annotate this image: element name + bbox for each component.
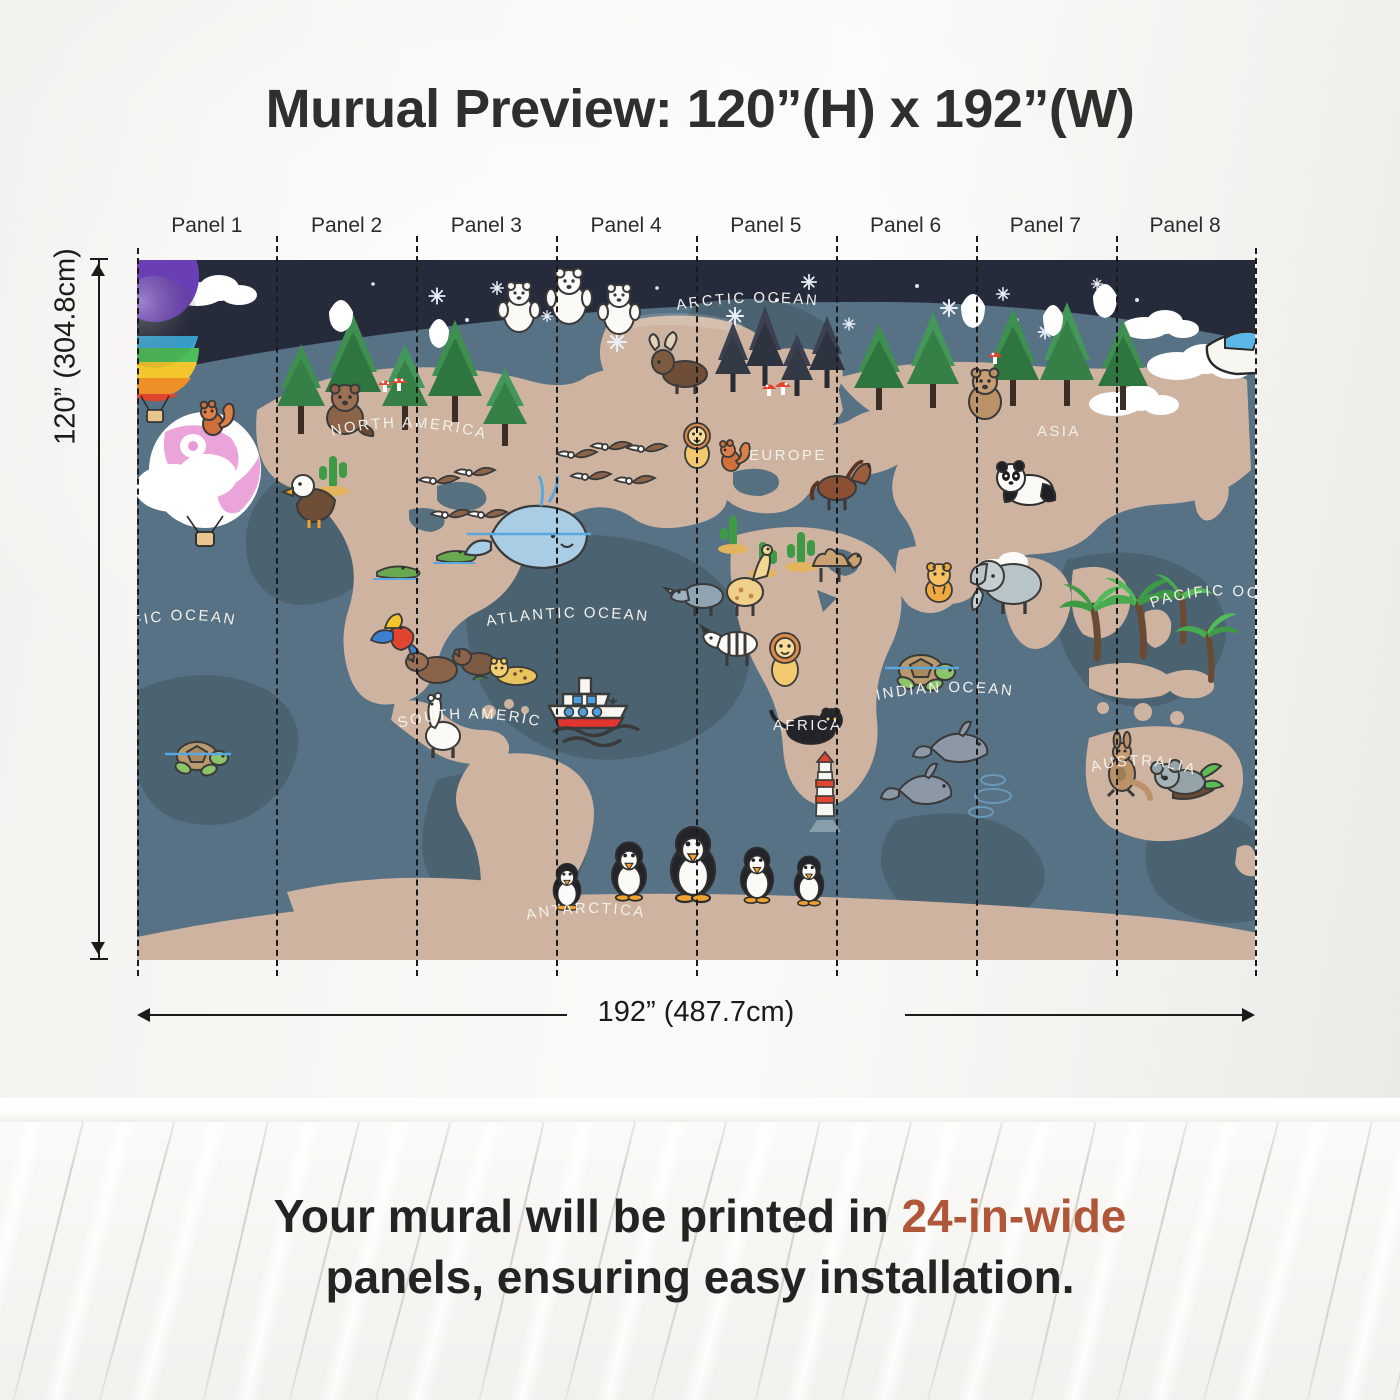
panel-label-3: Panel 3 (417, 214, 557, 248)
label-asia: ASIA (1037, 423, 1081, 440)
panel-label-8: Panel 8 (1115, 214, 1255, 248)
height-dimension (86, 258, 112, 960)
height-arrow-down (91, 942, 105, 954)
panel-label-5: Panel 5 (696, 214, 836, 248)
panel-divider-5 (836, 236, 838, 976)
page-title: Murual Preview: 120”(H) x 192”(W) (0, 78, 1400, 140)
width-dimension: 192” (487.7cm) (137, 1000, 1255, 1030)
panel-divider-3 (556, 236, 558, 976)
panel-label-7: Panel 7 (976, 214, 1116, 248)
width-dimension-label: 192” (487.7cm) (137, 996, 1255, 1029)
panel-divider-edge-left (137, 248, 139, 976)
installation-caption: Your mural will be printed in 24-in-wide… (0, 1186, 1400, 1308)
panel-label-2: Panel 2 (277, 214, 417, 248)
height-dimension-line (98, 258, 100, 960)
baseboard (0, 1098, 1400, 1122)
panel-divider-7 (1116, 236, 1118, 976)
panel-divider-2 (416, 236, 418, 976)
lion-icon-2 (770, 633, 800, 686)
panel-divider-edge-right (1255, 248, 1257, 976)
height-dimension-label: 120” (304.8cm) (50, 67, 83, 627)
label-africa: AFRICA (773, 717, 842, 734)
panel-divider-6 (976, 236, 978, 976)
caption-text-before: Your mural will be printed in (274, 1190, 902, 1242)
caption-line-2: panels, ensuring easy installation. (0, 1247, 1400, 1308)
tiger-icon (926, 563, 952, 602)
panel-label-4: Panel 4 (556, 214, 696, 248)
panel-label-1: Panel 1 (137, 214, 277, 248)
panel-label-6: Panel 6 (836, 214, 976, 248)
panel-divider-4 (696, 236, 698, 976)
label-europe: EUROPE (749, 447, 827, 464)
caption-highlight: 24-in-wide (901, 1190, 1126, 1242)
caption-line-1: Your mural will be printed in 24-in-wide (0, 1186, 1400, 1247)
brown-bear-icon (969, 369, 1001, 419)
height-arrow-up (91, 264, 105, 276)
panel-divider-1 (276, 236, 278, 976)
